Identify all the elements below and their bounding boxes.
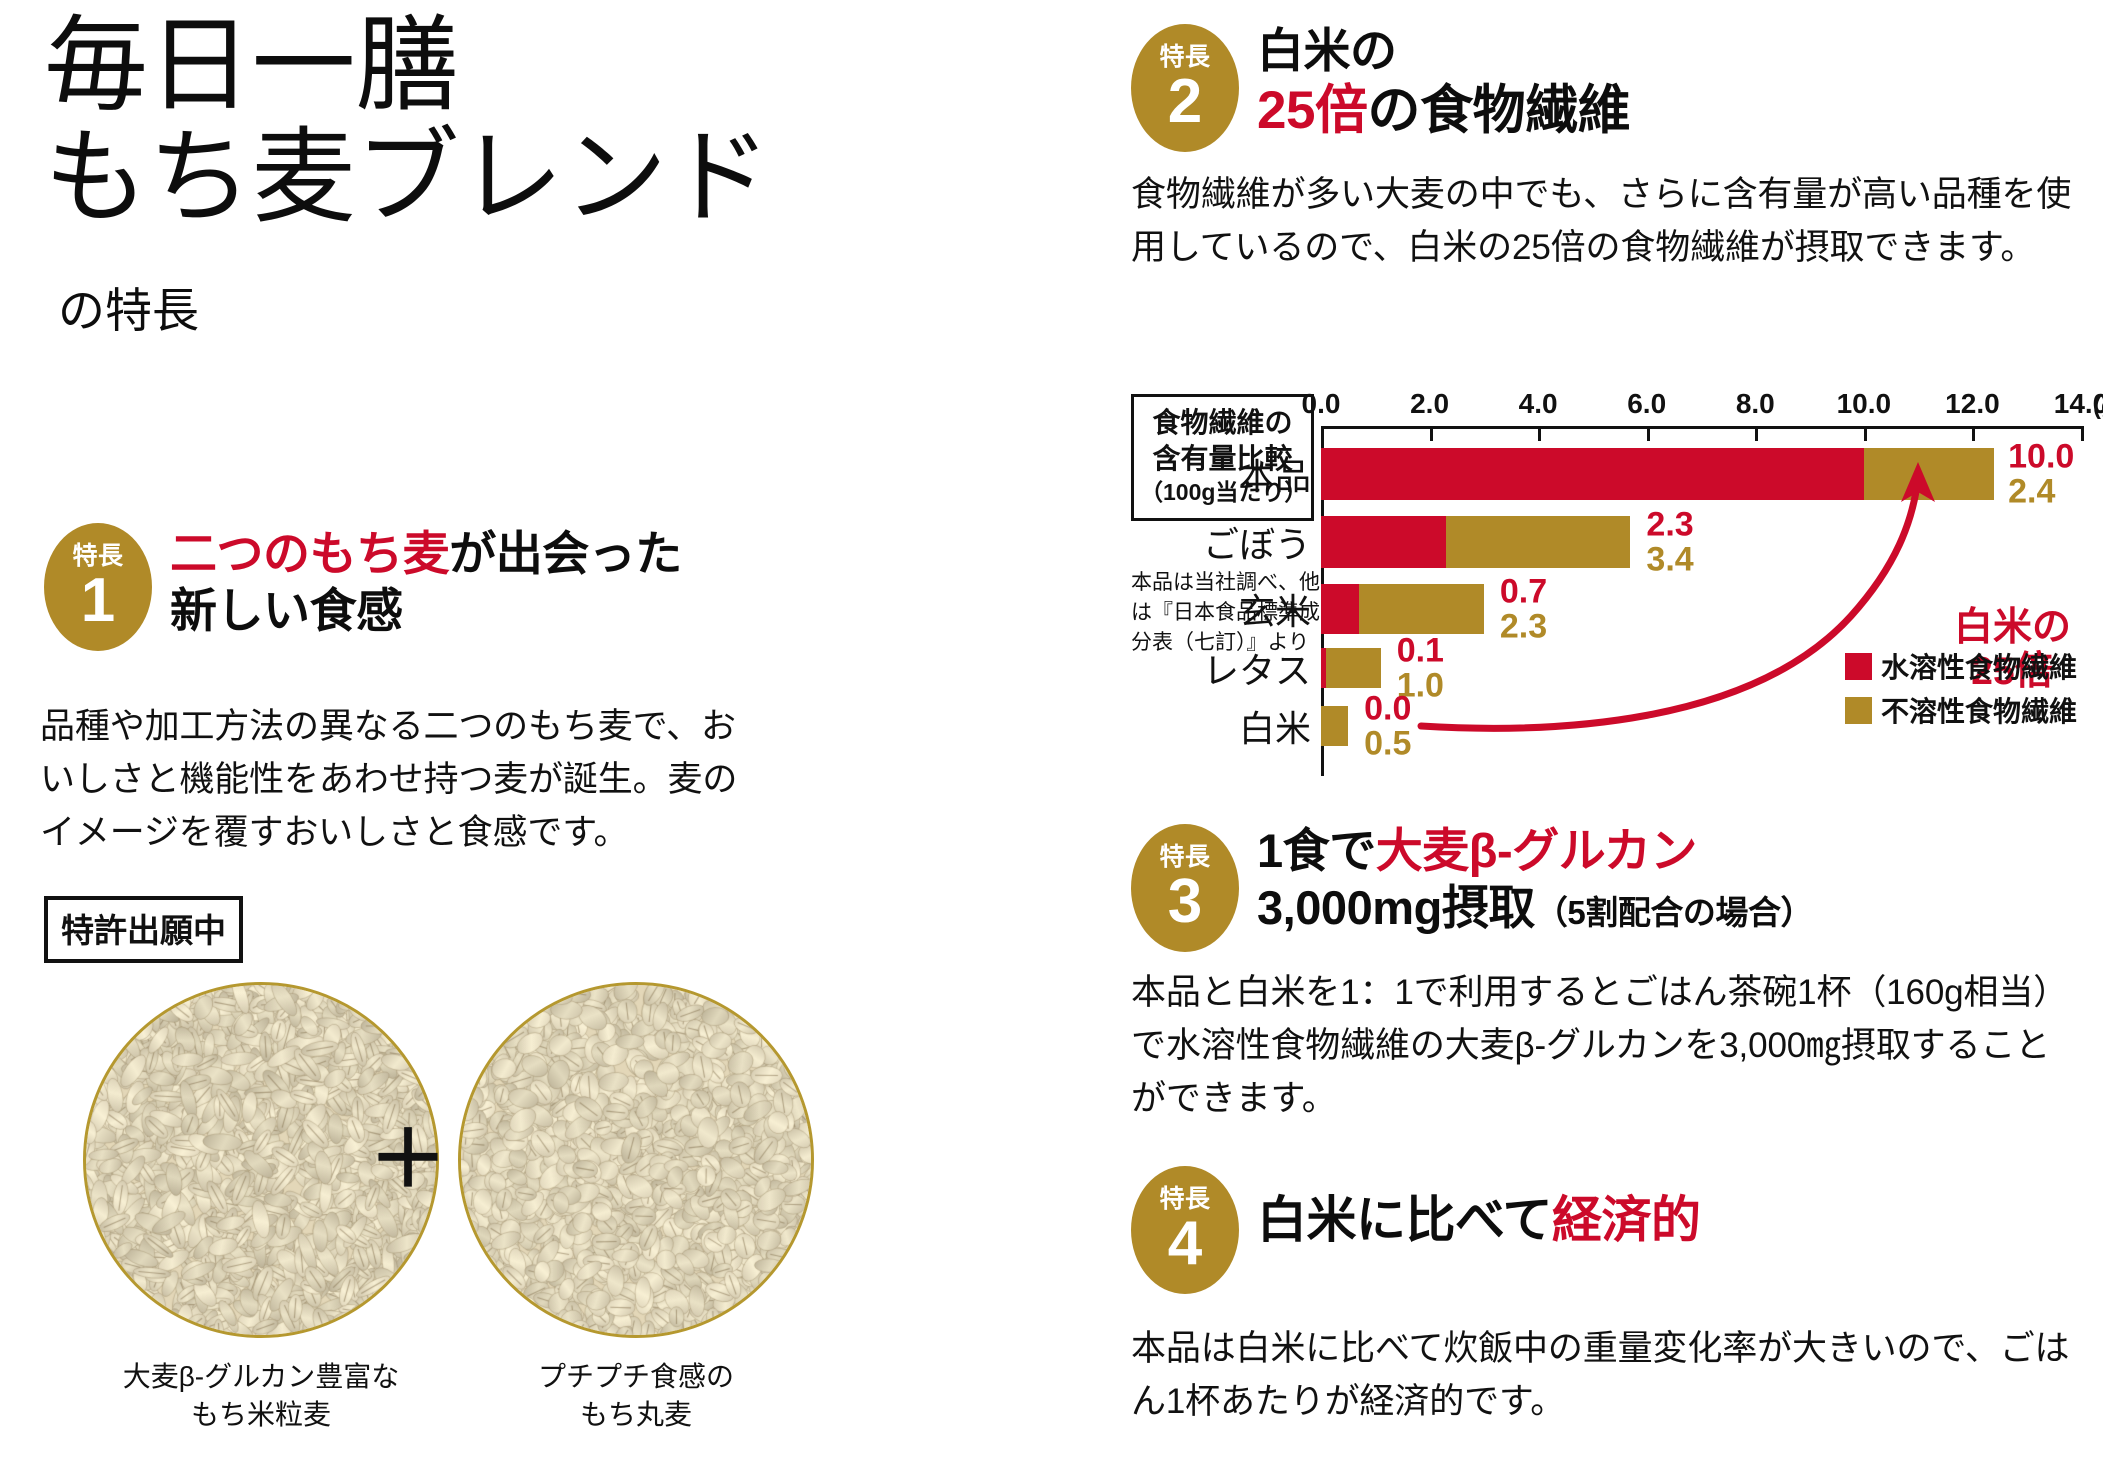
- bar-value-soluble: 0.7: [1500, 574, 1547, 609]
- legend-swatch-soluble: [1845, 653, 1872, 680]
- badge-kicker: 特長: [1159, 1187, 1210, 1212]
- x-tick: [2081, 426, 2084, 441]
- badge-kicker: 特長: [1159, 45, 1210, 70]
- badge-number: 4: [1168, 1215, 1202, 1274]
- x-tick-label: 6.0: [1627, 388, 1666, 420]
- feature-1-heading-line2: 新しい食感: [170, 584, 403, 637]
- feature-4-heading-red: 経済的: [1552, 1192, 1701, 1248]
- feature-badge-3: 特長 3: [1131, 824, 1239, 952]
- feature-2-body: 食物繊維が多い大麦の中でも、さらに含有量が高い品種を使用しているので、白米の25…: [1131, 168, 2081, 274]
- bar-segment-insoluble: [1446, 516, 1631, 568]
- grain-caption-1: 大麦β-グルカン豊富な もち米粒麦: [83, 1358, 439, 1434]
- title-line-1: 毎日一膳: [44, 14, 771, 120]
- feature-4-body: 本品は白米に比べて炊飯中の重量変化率が大きいので、ごはん1杯あたりが経済的です。: [1131, 1322, 2081, 1428]
- annotation-line1: 白米の: [1954, 606, 2071, 649]
- bar-segment-insoluble: [1864, 448, 1994, 500]
- grain-caption-2: プチプチ食感の もち丸麦: [458, 1358, 814, 1434]
- bar-segment-insoluble: [1326, 648, 1380, 688]
- title-line-2: もち麦ブレンド: [44, 126, 771, 232]
- chart-bar-row: ごぼう2.33.4: [1321, 516, 2081, 568]
- bar-value-labels: 10.02.4: [2008, 439, 2074, 508]
- bar-segment-soluble: [1321, 516, 1446, 568]
- infographic-page: 毎日一膳 もち麦ブレンド の特長 特長 1 二つのもち麦が出会った 新しい食感 …: [0, 0, 2103, 1472]
- feature-3-body: 本品と白米を1：1で利用するとごはん茶碗1杯（160g相当）で水溶性食物繊維の大…: [1131, 966, 2081, 1126]
- x-tick: [1647, 426, 1650, 441]
- feature-badge-2: 特長 2: [1131, 24, 1239, 152]
- x-tick: [1864, 426, 1867, 441]
- x-tick: [1430, 426, 1433, 441]
- bar-value-soluble: 0.0: [1364, 691, 1411, 726]
- feature-badge-1: 特長 1: [44, 523, 152, 651]
- feature-3-heading: 1食で大麦β-グルカン 3,000mg摂取（5割配合の場合）: [1257, 822, 2103, 937]
- feature-2-heading-line1: 白米の: [1257, 24, 1397, 77]
- feature-1-heading: 二つのもち麦が出会った 新しい食感: [170, 525, 970, 640]
- bar-segment-insoluble: [1321, 706, 1348, 746]
- badge-number: 3: [1168, 873, 1202, 932]
- grain-caption-1-line2: もち米粒麦: [191, 1399, 331, 1430]
- chart-axis-top: [1321, 426, 2081, 429]
- feature-1-body: 品種や加工方法の異なる二つのもち麦で、おいしさと機能性をあわせ持つ麦が誕生。麦の…: [40, 700, 760, 860]
- grain-caption-1-line1: 大麦β-グルカン豊富な: [123, 1361, 400, 1392]
- x-tick: [1972, 426, 1975, 441]
- x-tick-label: 12.0: [1945, 388, 2000, 420]
- x-tick-label: 2.0: [1410, 388, 1449, 420]
- chart-plot-area: 本品10.02.4ごぼう2.33.4玄米0.72.3レタス0.11.0白米0.0…: [1321, 426, 2081, 776]
- feature-4-heading-black: 白米に比べて: [1257, 1192, 1552, 1248]
- right-column: 特長 2 白米の 25倍の食物繊維 食物繊維が多い大麦の中でも、さらに含有量が高…: [1105, 0, 2103, 1472]
- patent-pending-badge: 特許出願中: [44, 896, 243, 963]
- feature-4-heading: 白米に比べて経済的: [1257, 1190, 2103, 1251]
- x-tick: [1538, 426, 1541, 441]
- chart-x-axis-labels: 0.02.04.06.08.010.012.014.0(g): [1321, 388, 2101, 422]
- feature-3-heading-line2: 3,000mg摂取: [1257, 881, 1535, 934]
- legend-label-soluble: 水溶性食物繊維: [1881, 646, 2077, 686]
- badge-kicker: 特長: [72, 544, 123, 569]
- bar-segment-soluble: [1321, 448, 1864, 500]
- legend-swatch-insoluble: [1845, 697, 1872, 724]
- feature-3-heading-red: 大麦β-グルカン: [1376, 824, 1697, 877]
- feature-1-heading-black: が出会った: [449, 527, 682, 580]
- bar-value-insoluble: 2.3: [1500, 609, 1547, 644]
- feature-2-heading: 白米の 25倍の食物繊維: [1257, 22, 2097, 144]
- bar-value-insoluble: 0.5: [1364, 726, 1411, 761]
- legend-item-insoluble: 不溶性食物繊維: [1845, 690, 2077, 730]
- grain-caption-2-line2: もち丸麦: [580, 1399, 692, 1430]
- left-column: 毎日一膳 もち麦ブレンド の特長 特長 1 二つのもち麦が出会った 新しい食感 …: [0, 0, 1105, 1472]
- bar-segment-insoluble: [1359, 584, 1484, 634]
- page-title: 毎日一膳 もち麦ブレンド: [44, 14, 771, 232]
- chart-bar-row: 本品10.02.4: [1321, 448, 2081, 500]
- x-tick-label: 0.0: [1302, 388, 1341, 420]
- x-tick: [1755, 426, 1758, 441]
- badge-kicker: 特長: [1159, 845, 1210, 870]
- chart-category-label: レタス: [1203, 642, 1311, 694]
- bar-value-labels: 0.72.3: [1500, 574, 1547, 643]
- bar-segment-soluble: [1321, 584, 1359, 634]
- bar-value-soluble: 10.0: [2008, 439, 2074, 474]
- feature-badge-4: 特長 4: [1131, 1166, 1239, 1294]
- feature-3-heading-note: （5割配合の場合）: [1535, 894, 1813, 931]
- legend-item-soluble: 水溶性食物繊維: [1845, 646, 2077, 686]
- x-tick-label: 10.0: [1837, 388, 1892, 420]
- x-tick-label: 4.0: [1519, 388, 1558, 420]
- chart-category-label: 本品: [1239, 448, 1311, 500]
- fiber-comparison-chart: 食物繊維の含有量比較 （100g当たり） 本品は当社調べ、他は『日本食品標準成分…: [1131, 372, 2103, 802]
- grain-texture-2: [461, 985, 814, 1338]
- feature-2-heading-red: 25倍: [1257, 81, 1368, 140]
- bar-value-soluble: 2.3: [1646, 507, 1693, 542]
- feature-3-heading-pre: 1食で: [1257, 824, 1376, 877]
- grain-caption-2-line1: プチプチ食感の: [538, 1361, 734, 1392]
- title-suffix: の特長: [58, 272, 199, 341]
- badge-number: 2: [1168, 73, 1202, 132]
- chart-category-label: 玄米: [1239, 583, 1311, 635]
- bar-value-soluble: 0.1: [1397, 633, 1444, 668]
- bar-value-labels: 0.00.5: [1364, 691, 1411, 760]
- chart-legend: 水溶性食物繊維 不溶性食物繊維: [1845, 646, 2077, 734]
- chart-category-label: ごぼう: [1203, 516, 1311, 568]
- grain-image-mochimarumugi: [458, 982, 814, 1338]
- bar-value-labels: 2.33.4: [1646, 507, 1693, 576]
- feature-2-heading-black: の食物繊維: [1368, 81, 1631, 140]
- badge-number: 1: [81, 572, 115, 631]
- x-tick-label: 8.0: [1736, 388, 1775, 420]
- plus-icon: ＋: [369, 1120, 447, 1198]
- x-axis-unit: (g): [2093, 393, 2103, 421]
- feature-1-heading-red: 二つのもち麦: [170, 527, 449, 580]
- bar-value-insoluble: 2.4: [2008, 474, 2074, 509]
- legend-label-insoluble: 不溶性食物繊維: [1881, 690, 2077, 730]
- bar-value-insoluble: 3.4: [1646, 542, 1693, 577]
- chart-category-label: 白米: [1239, 700, 1311, 752]
